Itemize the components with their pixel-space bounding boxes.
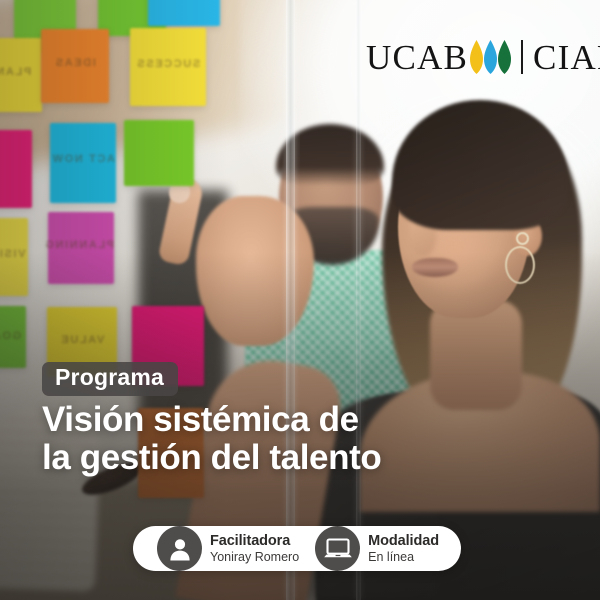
headline-line-1: Visión sistémica de: [42, 401, 502, 439]
info-value-modalidad: En línea: [368, 550, 439, 564]
info-label-facilitadora: Facilitadora: [210, 533, 299, 549]
laptop-icon: [315, 526, 360, 571]
program-badge: Programa: [42, 362, 178, 396]
info-bar: Facilitadora Yoniray Romero Modalidad En…: [133, 526, 461, 571]
leaf-icon-blue: [484, 40, 497, 74]
background-photo: PLANIDEASSUCCESSACT NOWPLANNINGVISIONGOA…: [0, 0, 600, 600]
headline-line-2: la gestión del talento: [42, 439, 502, 477]
poster-canvas: PLANIDEASSUCCESSACT NOWPLANNINGVISIONGOA…: [0, 0, 600, 600]
ucab-ciap-logo[interactable]: UCAB CIAP: [366, 36, 600, 78]
person-icon: [157, 526, 202, 571]
info-item-facilitadora: Facilitadora Yoniray Romero: [133, 526, 299, 571]
logo-text-ciap: CIAP: [533, 40, 600, 75]
info-item-modalidad: Modalidad En línea: [315, 526, 439, 571]
info-text-facilitadora: Facilitadora Yoniray Romero: [210, 533, 299, 563]
leaf-icon-green: [498, 40, 511, 74]
logo-text-ucab: UCAB: [366, 40, 468, 75]
logo-leaves: [470, 40, 511, 74]
logo-divider: [521, 40, 523, 74]
photo-shade-overlay: [0, 0, 600, 600]
page-title: Visión sistémica de la gestión del talen…: [42, 401, 502, 477]
info-label-modalidad: Modalidad: [368, 533, 439, 549]
info-value-facilitadora: Yoniray Romero: [210, 550, 299, 564]
title-block: Programa Visión sistémica de la gestión …: [42, 362, 502, 477]
leaf-icon-yellow: [470, 40, 483, 74]
info-text-modalidad: Modalidad En línea: [368, 533, 439, 563]
